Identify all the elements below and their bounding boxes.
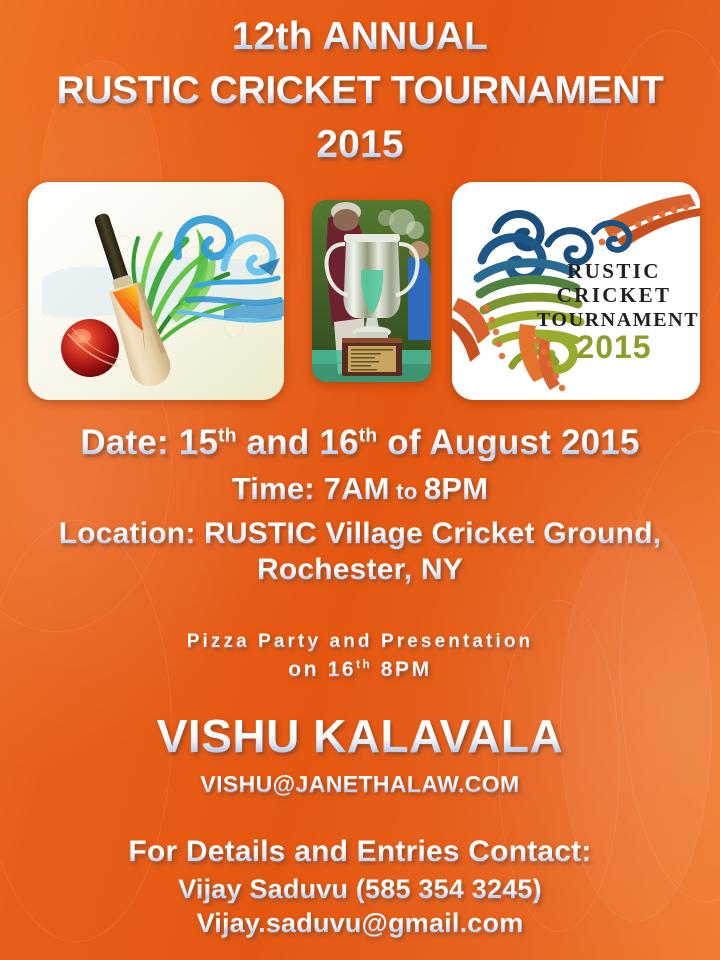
date-ordinal-1: th: [218, 425, 237, 446]
tournament-poster: 12th ANNUAL RUSTIC CRICKET TOURNAMENT 20…: [0, 0, 720, 960]
trophy-photo-svg: [312, 200, 431, 382]
trophy-photograph: [312, 200, 431, 382]
time-prefix: Time:: [232, 471, 324, 506]
contact-block: For Details and Entries Contact: Vijay S…: [0, 836, 720, 938]
organizer-name: VISHU KALAVALA: [0, 712, 720, 761]
tournament-logo: RUSTIC CRICKET TOURNAMENT 2015: [452, 182, 700, 400]
event-details: Date: 15th and 16th of August 2015 Time:…: [0, 424, 720, 586]
header-line-tournament: RUSTIC CRICKET TOURNAMENT: [0, 70, 720, 111]
pizza-party-note: Pizza Party and Presentation on 16th 8PM: [0, 632, 720, 681]
date-prefix: Date:: [80, 423, 178, 462]
image-gallery: RUSTIC CRICKET TOURNAMENT 2015: [0, 182, 720, 402]
date-suffix: of August 2015: [377, 423, 639, 462]
logo-text-rustic: RUSTIC: [567, 259, 661, 283]
header-line-year: 2015: [0, 124, 720, 165]
pizza-party-line-2: on 16th 8PM: [0, 659, 720, 681]
cricket-artwork-svg: [28, 182, 284, 400]
date-day-2: 16: [319, 423, 358, 462]
event-date-line: Date: 15th and 16th of August 2015: [0, 424, 720, 461]
logo-text-year: 2015: [576, 329, 651, 365]
pizza-prefix: on: [288, 658, 327, 681]
time-join: to: [390, 479, 424, 504]
logo-text-tournament: TOURNAMENT: [537, 309, 699, 331]
date-join: and: [237, 423, 320, 462]
event-location-line-2: Rochester, NY: [0, 554, 720, 586]
tournament-logo-svg: RUSTIC CRICKET TOURNAMENT 2015: [452, 182, 700, 400]
event-time-line: Time: 7AM to 8PM: [0, 473, 720, 506]
time-end: 8PM: [424, 471, 488, 506]
date-day-1: 15: [179, 423, 218, 462]
organizer-block: VISHU KALAVALA VISHU@JANETHALAW.COM: [0, 712, 720, 796]
poster-header: 12th ANNUAL RUSTIC CRICKET TOURNAMENT 20…: [0, 16, 720, 165]
event-location-line-1: Location: RUSTIC Village Cricket Ground,: [0, 518, 720, 550]
contact-person: Vijay Saduvu (585 354 3245): [0, 875, 720, 904]
organizer-email[interactable]: VISHU@JANETHALAW.COM: [0, 772, 720, 796]
time-start: 7AM: [324, 471, 390, 506]
date-ordinal-2: th: [359, 425, 378, 446]
logo-text-cricket: CRICKET: [557, 283, 672, 307]
pizza-party-line-1: Pizza Party and Presentation: [0, 632, 720, 652]
contact-email[interactable]: Vijay.saduvu@gmail.com: [0, 909, 720, 938]
cricket-bat-and-ball-artwork: [28, 182, 284, 400]
pizza-suffix: 8PM: [372, 658, 431, 681]
pizza-ordinal: th: [356, 659, 372, 671]
pizza-day: 16: [328, 658, 357, 681]
header-line-annual: 12th ANNUAL: [0, 16, 720, 57]
contact-heading: For Details and Entries Contact:: [0, 836, 720, 868]
